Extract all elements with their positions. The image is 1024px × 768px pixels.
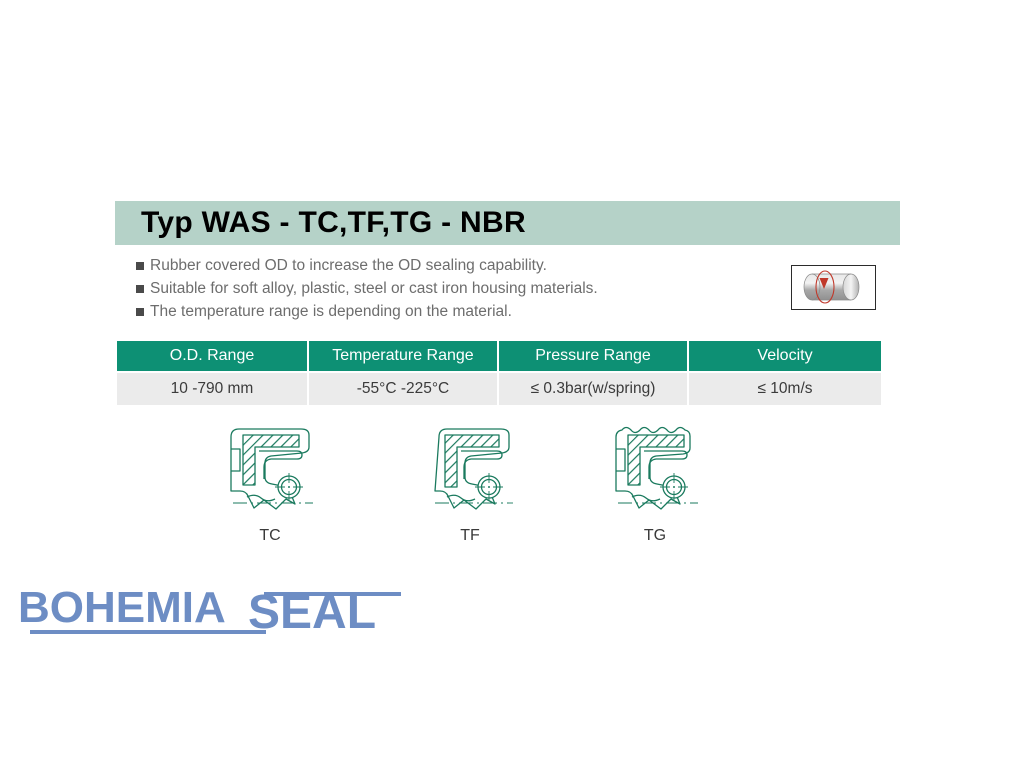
table-row: 10 -790 mm -55°C -225°C ≤ 0.3bar(w/sprin… (117, 371, 881, 405)
seal-profile-tg: TG (580, 415, 730, 545)
seal-label-tf: TF (395, 527, 545, 545)
bullet-text: The temperature range is depending on th… (150, 302, 512, 322)
bullet-text: Rubber covered OD to increase the OD sea… (150, 256, 547, 276)
list-item: Rubber covered OD to increase the OD sea… (136, 256, 756, 276)
seal-profile-tc: TC (195, 415, 345, 545)
list-item: The temperature range is depending on th… (136, 302, 756, 322)
seal-label-tg: TG (580, 527, 730, 545)
bullet-text: Suitable for soft alloy, plastic, steel … (150, 279, 598, 299)
page-title: Typ WAS - TC,TF,TG - NBR (141, 206, 526, 240)
cell-velocity: ≤ 10m/s (689, 371, 881, 405)
title-banner: Typ WAS - TC,TF,TG - NBR (115, 201, 900, 245)
cell-pressure-range: ≤ 0.3bar(w/spring) (499, 371, 689, 405)
column-header-velocity: Velocity (689, 341, 881, 371)
square-bullet-icon (136, 285, 144, 293)
column-header-pressure-range: Pressure Range (499, 341, 689, 371)
column-header-od-range: O.D. Range (117, 341, 309, 371)
square-bullet-icon (136, 262, 144, 270)
specification-table: O.D. Range Temperature Range Pressure Ra… (117, 341, 881, 405)
seal-profile-tf: TF (395, 415, 545, 545)
list-item: Suitable for soft alloy, plastic, steel … (136, 279, 756, 299)
company-logo: BOHEMIA SEAL (16, 580, 416, 642)
table-header-row: O.D. Range Temperature Range Pressure Ra… (117, 341, 881, 371)
cell-temperature-range: -55°C -225°C (309, 371, 499, 405)
seal-label-tc: TC (195, 527, 345, 545)
seal-diagram-group: TC TF (195, 415, 735, 550)
feature-bullet-list: Rubber covered OD to increase the OD sea… (136, 256, 756, 325)
logo-text-bohemia: BOHEMIA (18, 583, 226, 632)
column-header-temperature-range: Temperature Range (309, 341, 499, 371)
cell-od-range: 10 -790 mm (117, 371, 309, 405)
rotating-shaft-icon (791, 265, 876, 310)
square-bullet-icon (136, 308, 144, 316)
